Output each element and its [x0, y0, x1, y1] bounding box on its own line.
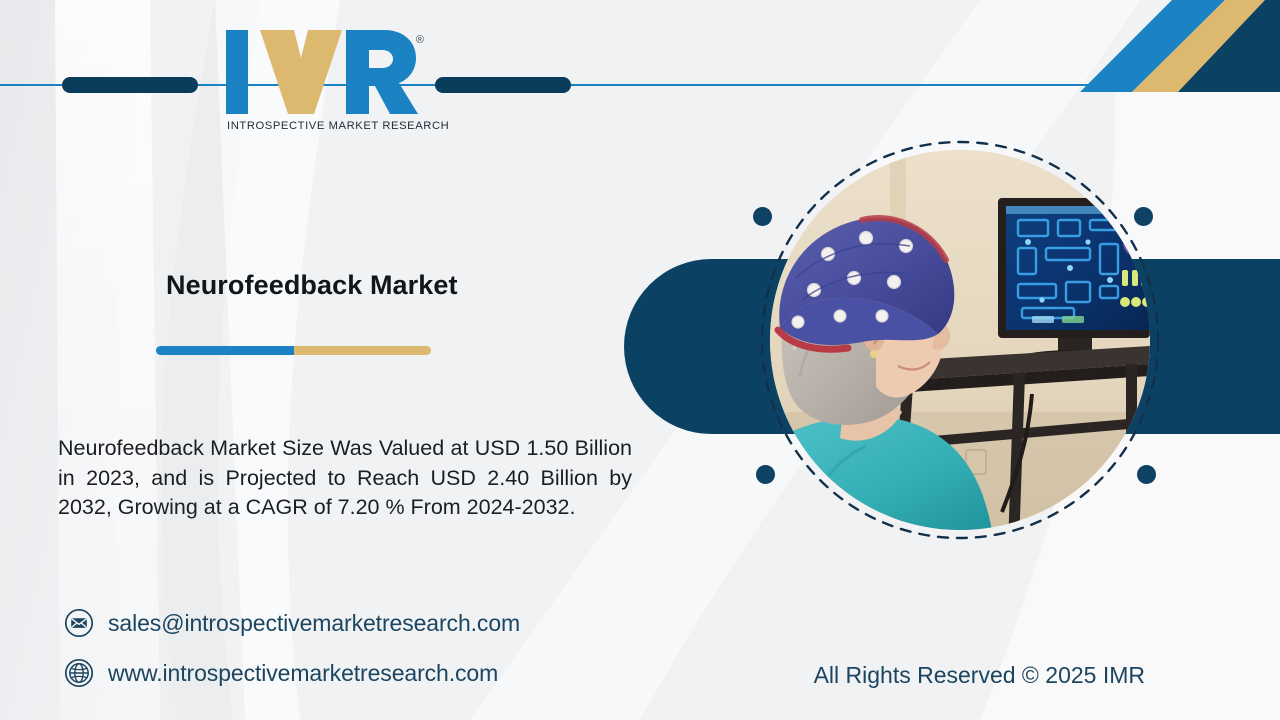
ring-dot-bottom-left [756, 465, 775, 484]
hero-photo-illustration [770, 150, 1150, 530]
hero-photo [770, 150, 1150, 530]
corner-ribbon-decor [1020, 0, 1280, 92]
logo-mark: ® [224, 28, 420, 116]
registered-trademark-icon: ® [416, 34, 424, 46]
header-rule-bar-right [435, 77, 571, 93]
page-title: Neurofeedback Market [166, 270, 596, 301]
accent-bar-blue-segment [156, 346, 294, 355]
logo-letters [224, 28, 420, 116]
imr-logo: ® INTROSPECTIVE MARKET RESEARCH [224, 28, 420, 140]
logo-tagline: INTROSPECTIVE MARKET RESEARCH [227, 120, 423, 132]
header-rule-bar-left [62, 77, 198, 93]
contact-email-row[interactable]: sales@introspectivemarketresearch.com [64, 608, 520, 638]
title-accent-bar [156, 346, 431, 355]
market-summary-text: Neurofeedback Market Size Was Valued at … [58, 434, 632, 523]
ring-dot-top-right [1134, 207, 1153, 226]
globe-icon [64, 658, 94, 688]
contact-website-text: www.introspectivemarketresearch.com [108, 660, 498, 687]
copyright-text: All Rights Reserved © 2025 IMR [814, 662, 1145, 689]
marketing-poster: ® INTROSPECTIVE MARKET RESEARCH Neurofee… [0, 0, 1280, 720]
hero-image-group [730, 110, 1190, 570]
accent-bar-tan-segment [294, 346, 432, 355]
ring-dot-top-left [753, 207, 772, 226]
envelope-icon [64, 608, 94, 638]
contact-email-text: sales@introspectivemarketresearch.com [108, 610, 520, 637]
logo-letter-r [346, 30, 418, 114]
contact-website-row[interactable]: www.introspectivemarketresearch.com [64, 658, 498, 688]
ring-dot-bottom-right [1137, 465, 1156, 484]
logo-letter-i [226, 30, 248, 114]
